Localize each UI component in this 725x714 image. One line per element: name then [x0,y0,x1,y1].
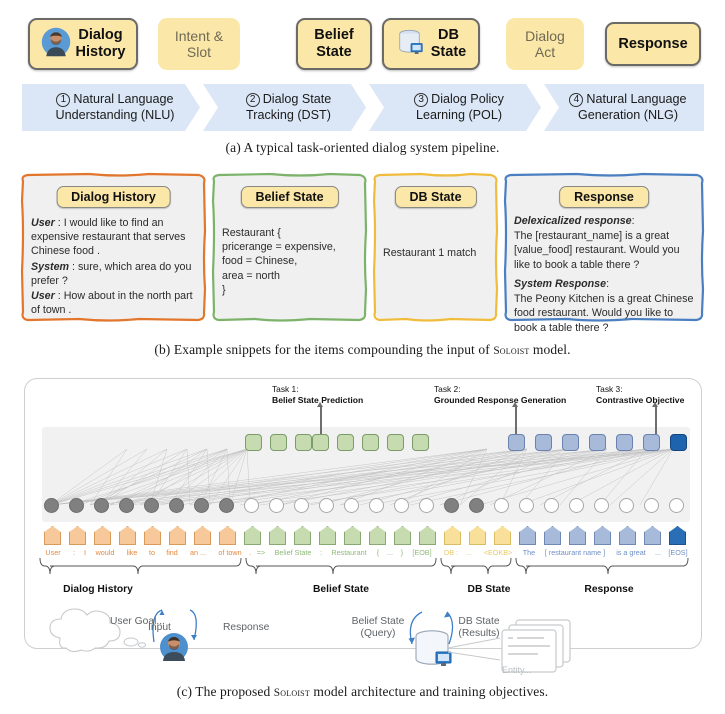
hidden-state-node [419,498,434,513]
output-square-green [337,434,354,451]
hidden-state-node [69,498,84,513]
hidden-state-node [369,498,384,513]
speaker-label: User [31,217,55,229]
speaker-label: User [31,290,55,302]
hidden-state-node [119,498,134,513]
group-label-response: Response [559,584,659,595]
snippet-title: DB State [394,186,476,208]
hidden-state-node [519,498,534,513]
pipeline-box-dialog-act[interactable]: Dialog Act [506,18,584,70]
hidden-state-node [144,498,159,513]
hidden-state-node [644,498,659,513]
user-avatar-icon [41,27,71,62]
output-square-blue [562,434,579,451]
pipeline-box-label: Dialog History [76,27,126,60]
pipeline-step-pol[interactable]: 3Dialog Policy Learning (POL) [369,84,541,131]
output-square-green [387,434,404,451]
panel-a-pipeline: Dialog History Intent & Slot Belief Stat… [0,0,725,168]
group-label-db-state: DB State [444,584,534,595]
pipeline-box-intent-slot[interactable]: Intent & Slot [158,18,240,70]
snippet-db-state: DB State Restaurant 1 match [374,174,497,320]
caption-b: (b) Example snippets for the items compo… [0,342,725,358]
snippet-body: Restaurant { pricerange = expensive, foo… [222,226,357,297]
snippet-response: Response Delexicalized response: The [re… [505,174,703,320]
output-square-contrastive [670,434,687,451]
snippet-body: Delexicalized response: The [restaurant_… [514,214,694,336]
hidden-state-node [169,498,184,513]
output-square-blue [643,434,660,451]
hidden-state-node [619,498,634,513]
pipeline-box-label: Response [618,36,687,53]
output-square-blue [616,434,633,451]
output-square-green [412,434,429,451]
output-square-blue [535,434,552,451]
pipeline-box-belief-state[interactable]: Belief State [296,18,372,70]
pipeline-step-label: 1Natural Language Understanding (NLU) [22,84,200,131]
output-square-green [312,434,329,451]
pipeline-step-dst[interactable]: 2Dialog State Tracking (DST) [203,84,366,131]
snippet-dialog-history: Dialog History User : I would like to fi… [22,174,205,320]
pipeline-step-nlu[interactable]: 1Natural Language Understanding (NLU) [22,84,200,131]
pipeline-step-label: 2Dialog State Tracking (DST) [203,84,366,131]
response-text: The [restaurant_name] is a great [value_… [514,229,694,272]
snippet-body: Restaurant 1 match [383,246,488,260]
pipeline-box-label: DB State [431,27,466,60]
response-subheading: System Response [514,278,606,290]
pipeline-box-dialog-history[interactable]: Dialog History [28,18,138,70]
hidden-state-node [194,498,209,513]
pipeline-box-label: Intent & Slot [175,28,223,60]
snippet-title: Response [559,186,649,208]
task-label-3: Task 3:Contrastive Objective [596,384,684,406]
hidden-state-node [219,498,234,513]
env-label-belief-query: Belief State(Query) [343,616,413,641]
step-number-badge: 2 [246,93,260,107]
pipeline-box-label: Belief State [314,27,354,60]
database-icon [396,27,426,62]
hidden-state-node [669,498,684,513]
step-number-badge: 4 [569,93,583,107]
hidden-state-node [394,498,409,513]
hidden-state-node [244,498,259,513]
pipeline-box-db-state[interactable]: DB State [382,18,480,70]
task-arrow-2 [515,406,517,434]
pipeline-step-label: 4Natural Language Generation (NLG) [544,84,704,131]
caption-a: (a) A typical task-oriented dialog syste… [0,140,725,156]
pipeline-step-nlg[interactable]: 4Natural Language Generation (NLG) [544,84,704,131]
user-avatar-icon [160,633,188,661]
snippet-title: Dialog History [56,186,171,208]
task-arrow-3 [655,406,657,434]
pipeline-box-label: Dialog Act [525,28,565,60]
group-label-dialog-history: Dialog History [38,584,158,595]
caption-c: (c) The proposed Soloist model architect… [0,684,725,700]
env-label-db-results: DB State(Results) [444,616,514,641]
hidden-state-node [269,498,284,513]
env-label-input: Input [148,622,171,634]
task-label-2: Task 2:Grounded Response Generation [434,384,566,406]
panel-b-snippets: Dialog History User : I would like to fi… [0,170,725,370]
step-number-badge: 1 [56,93,70,107]
hidden-state-node [469,498,484,513]
speaker-label: System [31,261,69,273]
hidden-state-node [494,498,509,513]
hidden-state-node [544,498,559,513]
hidden-state-node [344,498,359,513]
snippet-belief-state: Belief State Restaurant { pricerange = e… [213,174,366,320]
output-square-green [245,434,262,451]
env-label-entity: Entity... [502,665,531,676]
pipeline-step-label: 3Dialog Policy Learning (POL) [369,84,541,131]
snippet-body: User : I would like to find an expensive… [31,216,196,319]
output-square-blue [589,434,606,451]
hidden-state-node [94,498,109,513]
hidden-state-node [319,498,334,513]
output-square-green [270,434,287,451]
hidden-state-node [444,498,459,513]
hidden-state-node [294,498,309,513]
response-subheading: Delexicalized response [514,215,632,227]
output-square-blue [508,434,525,451]
hidden-state-node [569,498,584,513]
group-label-belief-state: Belief State [281,584,401,595]
output-square-green [362,434,379,451]
panel-c-architecture: Task 1:Belief State Prediction Task 2:Gr… [0,372,725,714]
step-number-badge: 3 [414,93,428,107]
snippet-title: Belief State [240,186,338,208]
output-square-green [295,434,312,451]
env-label-response: Response [223,622,269,634]
pipeline-box-response[interactable]: Response [605,22,701,66]
pipeline-box-row: Dialog History Intent & Slot Belief Stat… [0,12,725,74]
task-arrow-1 [320,406,322,434]
hidden-state-node [594,498,609,513]
response-text: The Peony Kitchen is a great Chinese foo… [514,292,694,335]
pipeline-step-band: 1Natural Language Understanding (NLU) 2D… [22,84,704,131]
group-braces [38,556,698,582]
hidden-state-node [44,498,59,513]
